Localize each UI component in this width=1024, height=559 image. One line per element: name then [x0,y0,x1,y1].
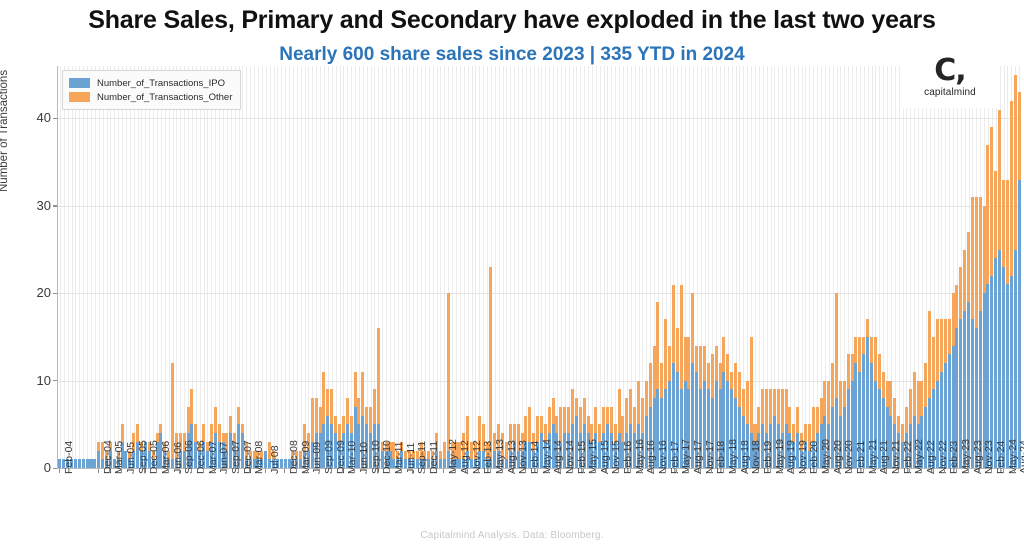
bar-segment-other [858,337,861,372]
bar-segment-other [711,354,714,398]
x-axis-tick-label: Feb-13 [482,441,494,474]
bar-segment-other [563,407,566,433]
x-axis-tick-mark [595,469,596,473]
bar-column [979,197,982,468]
x-axis-tick-label: May-19 [774,439,786,474]
x-axis-tick-mark [109,469,110,473]
bar-segment-other [971,197,974,319]
bar-segment-other [555,416,558,433]
bar-segment-other [1014,75,1017,250]
bar-segment-other [777,389,780,424]
x-axis-tick-label: Sep-09 [323,440,335,474]
bar-segment-other [672,285,675,364]
bar-segment-other [575,398,578,415]
bar-segment-other [769,389,772,424]
x-axis-tick-label: Dec-11 [428,441,440,474]
bar-segment-other [121,424,124,441]
x-axis-tick-label: Feb-04 [63,441,75,474]
bar-segment-other [229,416,232,433]
bar-segment-other [952,293,955,345]
bar-segment-other [365,407,368,424]
y-axis-tick-label: 10 [11,373,51,388]
bar-segment-other [633,407,636,433]
x-axis-tick-label: May-17 [680,439,692,474]
x-axis-tick-label: Feb-23 [948,441,960,474]
bar-column [994,171,997,468]
x-axis-tick-label: Sep-06 [183,440,195,474]
x-axis-tick-label: Nov-12 [471,440,483,474]
bar-segment-other [322,372,325,424]
x-axis-tick-mark [700,469,701,473]
x-axis-tick-mark [933,469,934,473]
x-axis-tick-mark [630,469,631,473]
bar-segment-other [687,337,690,389]
y-axis-tick-mark [53,380,57,381]
x-axis-tick-mark [676,469,677,473]
bar-segment-other [874,337,877,381]
bar-segment-other [1002,180,1005,267]
legend-item-ipo[interactable]: Number_of_Transactions_IPO [69,76,232,90]
bar-segment-other [594,407,597,433]
y-axis-tick-mark [53,118,57,119]
x-axis-tick-label: Sep-05 [137,440,149,474]
x-axis-tick-label: Jun-06 [172,442,184,474]
x-axis-tick-mark [389,469,390,473]
bar-segment-other [967,232,970,302]
x-axis-tick-mark [537,469,538,473]
bar-segment-other [443,442,446,459]
bar-segment-other [528,407,531,442]
x-axis-tick-label: Nov-16 [657,440,669,474]
bar-segment-other [878,354,881,389]
bar-segment-other [346,398,349,424]
bar-segment-other [680,285,683,390]
bar-segment-other [610,407,613,433]
chart-footnote: Capitalmind Analysis. Data: Bloomberg. [0,530,1024,541]
x-axis-tick-mark [249,469,250,473]
bar-segment-other [315,398,318,433]
x-axis-tick-mark [665,469,666,473]
x-axis-tick-mark [238,469,239,473]
bar-segment-other [653,346,656,398]
bar-segment-other [664,319,667,389]
bar-segment-other [882,372,885,398]
chart-subtitle: Nearly 600 share sales since 2023 | 335 … [0,44,1024,66]
legend-label-ipo: Number_of_Transactions_IPO [97,78,225,89]
x-axis-tick-mark [909,469,910,473]
y-axis-label: Number of Transactions [0,70,10,192]
x-axis-tick-label: Nov-21 [890,440,902,474]
bar-segment-other [862,337,865,354]
x-axis-tick-label: Aug-19 [785,440,797,474]
x-axis-tick-label: Feb-22 [902,441,914,474]
bar-segment-ipo [1018,180,1021,468]
x-axis-tick-label: Dec-06 [195,440,207,474]
bar-segment-other [757,407,760,433]
x-axis-tick-label: May-13 [494,439,506,474]
bar-segment-other [955,285,958,329]
x-axis-tick-mark [874,469,875,473]
x-axis-tick-mark [548,469,549,473]
x-axis-tick-mark [455,469,456,473]
bar-column [1018,92,1021,468]
bar-segment-other [979,197,982,311]
chart-title: Share Sales, Primary and Secondary have … [0,6,1024,35]
x-axis-tick-label: Aug-22 [925,440,937,474]
bar-segment-other [691,293,694,363]
bar-segment-other [1006,180,1009,285]
x-axis-tick-label: Mar-07 [207,441,219,474]
bar-segment-other [870,337,873,363]
x-axis-tick-mark [851,469,852,473]
bar-segment-other [629,389,632,424]
logo-wordmark: capitalmind [902,87,998,98]
bar-segment-other [214,407,217,433]
bar-column [284,459,287,468]
x-axis-tick-mark [688,469,689,473]
bar-segment-ipo [998,250,1001,468]
bar-column [998,110,1001,468]
x-axis-tick-mark [307,469,308,473]
x-axis-tick-mark [214,469,215,473]
bar-segment-other [159,424,162,433]
chart-figure: Share Sales, Primary and Secondary have … [0,0,1024,559]
bar-segment-other [866,319,869,336]
bar-column [1006,180,1009,468]
x-axis-tick-mark [490,469,491,473]
bar-segment-other [944,319,947,363]
bar-segment-other [326,389,329,415]
bar-segment-other [897,416,900,433]
x-axis-tick-label: Dec-08 [288,440,300,474]
x-axis-tick-label: Aug-16 [645,440,657,474]
bar-segment-other [948,319,951,354]
bar-segment-other [645,381,648,416]
x-axis-tick-mark [606,469,607,473]
x-axis-tick-mark [401,469,402,473]
legend-label-other: Number_of_Transactions_Other [97,92,232,103]
bar-segment-other [668,346,671,381]
bar-segment-other [742,389,745,415]
x-axis-tick-mark [968,469,969,473]
bar-segment-other [734,363,737,398]
x-axis-tick-label: May-24 [1007,439,1019,474]
x-axis-tick-mark [898,469,899,473]
legend-swatch-other [69,92,90,102]
bar-segment-other [354,372,357,407]
bar-segment-other [707,363,710,389]
x-axis-tick-mark [641,469,642,473]
bar-column [58,459,61,468]
x-axis-tick-label: Feb-19 [762,441,774,474]
bar-segment-other [660,363,663,398]
bar-segment-other [975,197,978,328]
y-axis-tick-label: 30 [11,198,51,213]
legend-item-other[interactable]: Number_of_Transactions_Other [69,90,232,104]
x-axis-tick-mark [525,469,526,473]
x-axis-tick-label: Nov-18 [750,440,762,474]
y-axis-tick-label: 0 [11,460,51,475]
x-axis-tick-label: May-21 [867,439,879,474]
bar-segment-other [936,319,939,380]
bar-segment-other [703,346,706,381]
bar-segment-other [746,381,749,425]
bar-segment-other [893,398,896,424]
plot-area [57,66,1021,469]
bar-column [97,442,100,468]
bar-segment-other [851,354,854,380]
x-axis-tick-label: Feb-24 [995,441,1007,474]
bar-column [82,459,85,468]
legend-swatch-ipo [69,78,90,88]
x-axis-tick-label: Dec-04 [102,440,114,474]
bar-column [963,250,966,468]
bar-segment-other [641,398,644,433]
bar-segment-ipo [86,459,89,468]
x-axis-tick-label: Mar-10 [346,441,358,474]
x-axis-tick-label: Nov-15 [610,440,622,474]
bar-segment-other [377,328,380,424]
x-axis-tick-label: Jun-05 [125,442,137,474]
bar-segment-other [1010,101,1013,276]
bar-segment-other [932,337,935,389]
bar-segment-other [621,416,624,442]
x-axis-tick-mark [168,469,169,473]
x-axis-tick-mark [179,469,180,473]
bar-segment-other [625,398,628,433]
bar-segment-other [524,416,527,442]
bar-segment-other [889,381,892,416]
y-axis-tick-label: 40 [11,110,51,125]
x-axis-tick-label: Aug-18 [739,440,751,474]
bar-segment-other [187,407,190,433]
x-axis-tick-label: Aug-12 [459,440,471,474]
x-axis-tick-mark [979,469,980,473]
x-axis-tick-label: Nov-23 [983,440,995,474]
bar-segment-other [583,398,586,424]
x-axis-tick-mark [412,469,413,473]
x-axis-tick-label: Aug-23 [972,440,984,474]
bar-segment-other [986,145,989,285]
bar-segment-other [719,363,722,389]
x-axis-tick-label: Jul-08 [269,445,281,474]
x-axis-tick-label: Jun-09 [311,442,323,474]
x-axis-tick-mark [284,469,285,473]
bar-segment-other [369,407,372,433]
bar-segment-ipo [82,459,85,468]
x-axis-tick-label: May-18 [727,439,739,474]
x-axis-tick-label: May-14 [541,439,553,474]
x-axis-tick-label: Sep-11 [416,441,428,474]
x-axis-tick-mark [133,469,134,473]
x-axis-tick-mark [991,469,992,473]
bar-segment-other [730,372,733,389]
bar-segment-other [361,372,364,416]
bar-segment-other [726,354,729,380]
x-axis-tick-label: Jun-10 [358,442,370,474]
x-axis-tick-mark [502,469,503,473]
bar-segment-other [924,363,927,407]
bar-segment-other [548,407,551,433]
bar-segment-other [839,381,842,416]
bar-segment-other [618,389,621,433]
bar-segment-other [447,293,450,450]
x-axis-tick-mark [98,469,99,473]
x-axis-tick-mark [711,469,712,473]
x-axis-tick-label: Nov-13 [517,440,529,474]
bar-segment-other [940,319,943,371]
bar-segment-other [579,407,582,433]
x-axis-tick-label: Sep-10 [370,440,382,474]
y-axis-tick-label: 20 [11,285,51,300]
x-axis-tick-mark [863,469,864,473]
chart-legend: Number_of_Transactions_IPO Number_of_Tra… [62,70,241,110]
x-axis-tick-label: Mar-11 [393,442,405,474]
bar-segment-other [761,389,764,424]
bar-segment-other [812,407,815,442]
bar-segment-ipo [58,459,61,468]
x-axis-tick-label: Aug-15 [599,440,611,474]
x-axis-tick-mark [144,469,145,473]
x-axis-tick-label: May-15 [587,439,599,474]
bar-segment-other [905,407,908,433]
x-axis-tick-mark [572,469,573,473]
bar-segment-other [373,389,376,424]
x-axis-tick-mark [816,469,817,473]
bar-segment-ipo [93,459,96,468]
bar-column [443,442,446,468]
x-axis-tick-label: May-20 [820,439,832,474]
x-axis-tick-label: Nov-22 [937,440,949,474]
bar-segment-other [97,442,100,451]
bar-column [959,267,962,468]
bar-segment-other [334,416,337,433]
x-axis-tick-label: Nov-17 [704,440,716,474]
bar-column [986,145,989,468]
x-axis-tick-label: Feb-18 [715,441,727,474]
x-axis-tick-label: Aug-13 [506,440,518,474]
x-axis-tick-mark [354,469,355,473]
x-axis-tick-mark [377,469,378,473]
x-axis-tick-mark [723,469,724,473]
bar-segment-other [886,381,889,407]
bar-segment-other [835,293,838,398]
bar-segment-other [827,381,830,425]
x-axis-tick-label: Nov-20 [843,440,855,474]
bar-segment-ipo [443,459,446,468]
x-axis-tick-label: May-23 [960,439,972,474]
bar-segment-other [237,407,240,424]
x-axis-tick-mark [921,469,922,473]
bar-segment-other [781,389,784,433]
bar-segment-other [831,363,834,407]
x-axis-tick-mark [758,469,759,473]
x-axis-tick-label: Feb-17 [669,441,681,474]
x-axis-tick-mark [746,469,747,473]
bar-column [86,459,89,468]
bar-segment-other [587,416,590,433]
bar-segment-other [699,346,702,390]
x-axis-tick-label: Mar-05 [113,441,125,474]
x-axis-tick-label: Dec-05 [148,440,160,474]
bar-segment-other [796,407,799,433]
bar-column [971,197,974,468]
x-axis-tick-mark [121,469,122,473]
x-axis-tick-label: Nov-14 [564,440,576,474]
x-axis-tick-mark [226,469,227,473]
x-axis-tick-label: Mar-06 [160,441,172,474]
x-axis-tick-mark [886,469,887,473]
x-axis-tick-mark [467,469,468,473]
x-axis-tick-mark [735,469,736,473]
bar-segment-other [785,389,788,424]
x-axis-tick-label: May-22 [913,439,925,474]
x-axis-tick-mark [583,469,584,473]
bar-column [89,459,92,468]
bar-segment-other [843,381,846,407]
bar-segment-other [311,398,314,442]
bar-segment-other [602,407,605,433]
x-axis-tick-mark [513,469,514,473]
y-axis-tick-mark [53,468,57,469]
bar-segment-other [998,110,1001,250]
bar-segment-other [695,346,698,372]
x-axis-tick-mark [191,469,192,473]
bar-segment-other [489,267,492,459]
bar-column [1002,180,1005,468]
bar-segment-other [765,389,768,433]
x-axis-tick-label: Aug-20 [832,440,844,474]
x-axis-tick-label: Feb-20 [808,441,820,474]
bar-segment-other [606,407,609,424]
bar-series-container [58,66,1021,468]
x-axis-tick-label: Dec-09 [335,440,347,474]
bar-segment-ipo [284,459,287,468]
x-axis-tick-mark [1003,469,1004,473]
x-axis-tick-mark [156,469,157,473]
bar-column [983,206,986,468]
x-axis-tick-mark [296,469,297,473]
x-axis-tick-label: Feb-14 [529,441,541,474]
bar-segment-other [190,389,193,424]
y-axis-tick-mark [53,205,57,206]
bar-segment-other [552,398,555,424]
bar-segment-other [536,416,539,442]
bar-segment-other [990,127,993,276]
bar-column [93,459,96,468]
x-axis-tick-mark [618,469,619,473]
bar-segment-other [722,337,725,372]
bar-column [489,267,492,468]
bar-segment-other [816,407,819,433]
bar-segment-other [738,372,741,407]
bar-segment-other [330,389,333,424]
bar-segment-other [357,398,360,424]
bar-column [1014,75,1017,468]
logo-mark-icon: C, [902,56,998,86]
bar-segment-ipo [1014,250,1017,468]
x-axis-tick-label: Aug-14 [552,440,564,474]
bar-segment-other [820,398,823,424]
bar-segment-other [567,407,570,433]
x-axis-tick-label: Aug-17 [692,440,704,474]
x-axis-tick-label: Feb-15 [576,441,588,474]
bar-segment-ipo [89,459,92,468]
bar-segment-other [773,389,776,415]
bar-segment-other [983,206,986,293]
y-axis-tick-mark [53,293,57,294]
bar-segment-other [218,424,221,441]
